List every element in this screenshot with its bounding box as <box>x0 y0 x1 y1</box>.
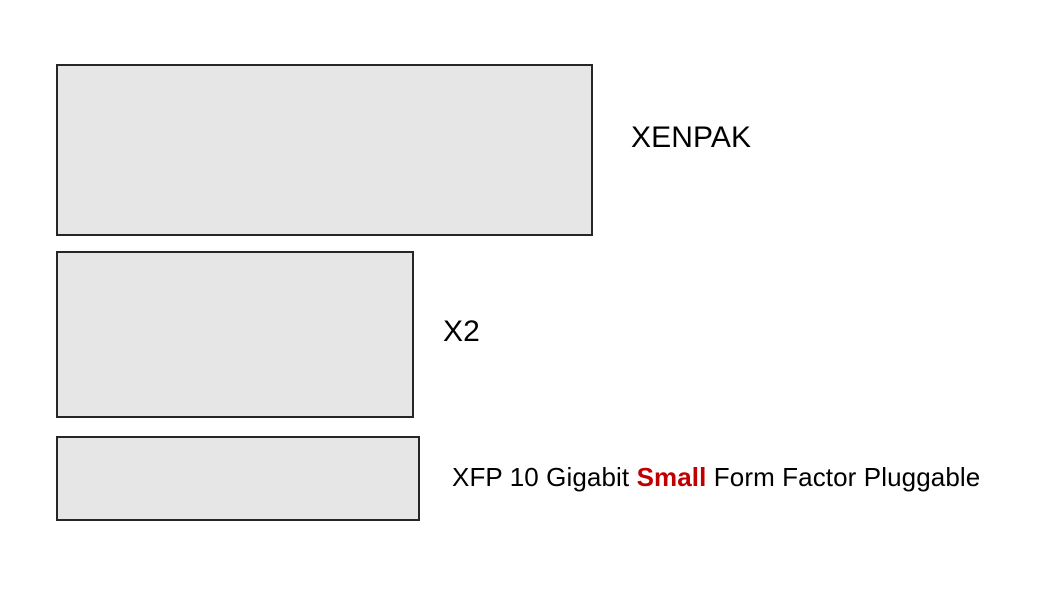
form-factor-label-xfp: XFP 10 Gigabit Small Form Factor Pluggab… <box>452 464 980 490</box>
form-factor-label-xfp-suffix: Form Factor Pluggable <box>706 462 980 492</box>
form-factor-box-x2[interactable] <box>56 251 414 418</box>
form-factor-label-xenpak: XENPAK <box>631 123 751 153</box>
form-factor-label-x2: X2 <box>443 317 480 347</box>
form-factor-box-xenpak[interactable] <box>56 64 593 236</box>
form-factor-label-xfp-prefix: XFP 10 Gigabit <box>452 462 637 492</box>
form-factor-box-xfp[interactable] <box>56 436 420 521</box>
diagram-canvas: XENPAK X2 XFP 10 Gigabit Small Form Fact… <box>0 0 1055 607</box>
form-factor-label-xfp-emphasis: Small <box>637 462 707 492</box>
